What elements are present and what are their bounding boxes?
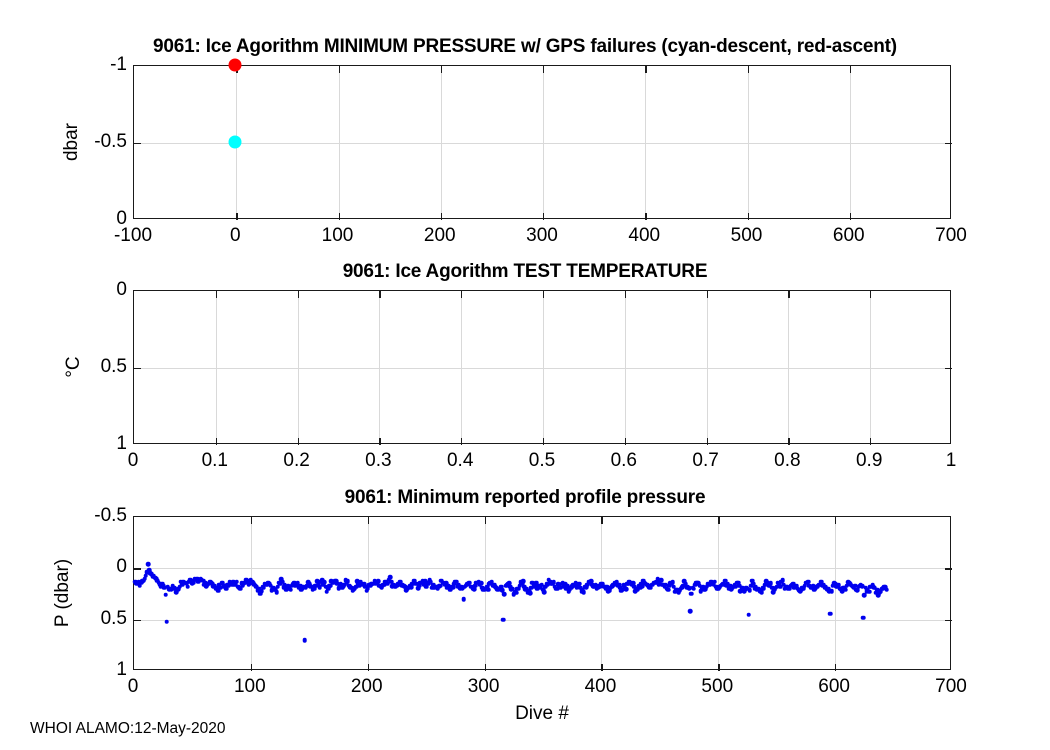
- axis-tick: [441, 213, 442, 220]
- axis-tick: [216, 438, 217, 445]
- y-tick-label: 1: [71, 433, 127, 455]
- gridline-horizontal: [134, 568, 950, 569]
- axis-tick: [485, 664, 486, 671]
- gridline-vertical: [543, 66, 544, 218]
- data-point: [867, 590, 872, 595]
- panel3-title: 9061: Minimum reported profile pressure: [0, 487, 1050, 509]
- axis-tick: [339, 66, 340, 73]
- x-tick-label: 100: [322, 225, 354, 247]
- data-point: [855, 588, 860, 593]
- data-point: [472, 587, 477, 592]
- data-point: [164, 619, 169, 624]
- x-tick-label: 0.7: [692, 450, 718, 472]
- data-point: [584, 585, 589, 590]
- gridline-vertical: [543, 291, 544, 443]
- data-point: [860, 584, 865, 589]
- axis-tick: [718, 664, 719, 671]
- y-tick-label: 0: [71, 556, 127, 578]
- data-point: [437, 584, 442, 589]
- x-tick-label: 0.8: [774, 450, 800, 472]
- panel3-xlabel: Dive #: [515, 703, 569, 725]
- data-point: [341, 584, 346, 589]
- gridline-vertical: [368, 517, 369, 669]
- data-point: [163, 592, 168, 597]
- y-tick-label: 0: [71, 208, 127, 230]
- gridline-horizontal: [134, 620, 950, 621]
- data-point: [302, 638, 307, 643]
- gridline-vertical: [461, 291, 462, 443]
- gridline-vertical: [645, 66, 646, 218]
- data-point: [322, 580, 327, 585]
- axis-tick: [850, 66, 851, 73]
- x-tick-label: 0.6: [611, 450, 637, 472]
- data-point: [364, 588, 369, 593]
- axis-tick: [707, 291, 708, 298]
- axis-tick: [718, 517, 719, 524]
- x-tick-label: 700: [935, 225, 967, 247]
- axis-tick: [134, 568, 141, 569]
- axis-tick: [788, 438, 789, 445]
- data-point: [388, 575, 393, 580]
- data-point: [688, 609, 693, 614]
- axis-tick: [298, 438, 299, 445]
- data-point: [746, 612, 751, 617]
- axis-tick: [236, 213, 237, 220]
- data-point: [376, 579, 381, 584]
- y-tick-label: 0: [71, 279, 127, 301]
- x-tick-label: 0.4: [447, 450, 473, 472]
- axis-tick: [850, 213, 851, 220]
- data-point: [521, 579, 526, 584]
- axis-tick: [945, 620, 952, 621]
- axis-tick: [134, 368, 141, 369]
- data-point: [288, 587, 293, 592]
- x-tick-label: 100: [234, 676, 266, 698]
- data-point: [258, 592, 263, 597]
- data-point: [267, 582, 272, 587]
- axis-tick: [251, 664, 252, 671]
- data-point: [582, 590, 587, 595]
- x-tick-label: 200: [351, 676, 383, 698]
- gridline-vertical: [251, 517, 252, 669]
- data-point: [829, 589, 834, 594]
- axis-tick: [134, 620, 141, 621]
- data-point: [318, 585, 323, 590]
- panel2-title: 9061: Ice Agorithm TEST TEMPERATURE: [0, 261, 1050, 283]
- data-point: [479, 581, 484, 586]
- data-point: [762, 586, 767, 591]
- gridline-vertical: [718, 517, 719, 669]
- axis-tick: [870, 291, 871, 298]
- gridline-vertical: [748, 66, 749, 218]
- data-point: [486, 587, 491, 592]
- axis-tick: [748, 66, 749, 73]
- axis-tick: [461, 291, 462, 298]
- axis-tick: [601, 517, 602, 524]
- data-point: [712, 579, 717, 584]
- x-tick-label: 0.1: [202, 450, 228, 472]
- axis-tick: [543, 213, 544, 220]
- data-point: [501, 617, 506, 622]
- axis-tick: [870, 438, 871, 445]
- data-point: [771, 590, 776, 595]
- x-tick-label: 0: [128, 676, 139, 698]
- axis-tick: [134, 143, 141, 144]
- gridline-vertical: [339, 66, 340, 218]
- panel3-axes: [133, 516, 951, 670]
- data-point: [542, 590, 547, 595]
- data-point: [558, 585, 563, 590]
- data-point: [310, 587, 315, 592]
- data-point: [750, 578, 755, 583]
- x-tick-label: 300: [526, 225, 558, 247]
- data-point: [883, 585, 888, 590]
- data-point: [871, 585, 876, 590]
- data-point: [861, 615, 866, 620]
- data-point: [237, 586, 242, 591]
- x-tick-label: 500: [731, 225, 763, 247]
- axis-tick: [461, 438, 462, 445]
- data-point: [507, 581, 512, 586]
- axis-tick: [645, 66, 646, 73]
- y-tick-label: -0.5: [71, 505, 127, 527]
- axis-tick: [835, 664, 836, 671]
- gridline-vertical: [850, 66, 851, 218]
- matlab-figure: 9061: Ice Agorithm MINIMUM PRESSURE w/ G…: [0, 0, 1050, 750]
- data-point: [279, 577, 284, 582]
- axis-tick: [945, 143, 952, 144]
- gridline-vertical: [707, 291, 708, 443]
- axis-tick: [543, 438, 544, 445]
- x-tick-label: 600: [833, 225, 865, 247]
- data-point: [624, 587, 629, 592]
- gridline-vertical: [788, 291, 789, 443]
- gridline-vertical: [379, 291, 380, 443]
- data-point: [176, 587, 181, 592]
- data-marker-red-ascent: [229, 59, 242, 72]
- axis-tick: [485, 517, 486, 524]
- data-point: [461, 597, 466, 602]
- gridline-vertical: [835, 517, 836, 669]
- data-point: [736, 580, 741, 585]
- gridline-vertical: [625, 291, 626, 443]
- axis-tick: [645, 213, 646, 220]
- gridline-vertical: [601, 517, 602, 669]
- x-tick-label: 0.5: [529, 450, 555, 472]
- axis-tick: [543, 291, 544, 298]
- axis-tick: [707, 438, 708, 445]
- data-point: [876, 593, 881, 598]
- data-point: [691, 587, 696, 592]
- panel1-title: 9061: Ice Agorithm MINIMUM PRESSURE w/ G…: [0, 36, 1050, 58]
- gridline-vertical: [441, 66, 442, 218]
- axis-tick: [379, 438, 380, 445]
- data-point: [689, 592, 694, 597]
- data-point: [502, 592, 507, 597]
- data-point: [199, 578, 204, 583]
- axis-tick: [748, 213, 749, 220]
- gridline-vertical: [298, 291, 299, 443]
- y-tick-label: 0.5: [71, 356, 127, 378]
- x-tick-label: 600: [818, 676, 850, 698]
- axis-tick: [543, 66, 544, 73]
- panel2-axes: [133, 290, 951, 444]
- data-point: [843, 588, 848, 593]
- axis-tick: [441, 66, 442, 73]
- data-point: [514, 590, 519, 595]
- x-tick-label: 0: [230, 225, 241, 247]
- y-tick-label: 1: [71, 659, 127, 681]
- data-point: [327, 584, 332, 589]
- axis-tick: [339, 213, 340, 220]
- data-point: [801, 586, 806, 591]
- axis-tick: [945, 568, 952, 569]
- x-tick-label: 0.9: [856, 450, 882, 472]
- axis-tick: [601, 664, 602, 671]
- data-point: [190, 581, 195, 586]
- x-tick-label: 400: [585, 676, 617, 698]
- data-point: [780, 578, 785, 583]
- axis-tick: [625, 438, 626, 445]
- data-point: [346, 579, 351, 584]
- axis-tick: [368, 664, 369, 671]
- panel1-axes: [133, 65, 951, 219]
- x-tick-label: 0.3: [365, 450, 391, 472]
- gridline-vertical: [870, 291, 871, 443]
- data-point: [185, 584, 190, 589]
- y-tick-label: -1: [71, 54, 127, 76]
- data-point: [140, 579, 145, 584]
- y-tick-label: -0.5: [71, 131, 127, 153]
- data-point: [516, 586, 521, 591]
- gridline-horizontal: [134, 368, 950, 369]
- data-point: [769, 581, 774, 586]
- axis-tick: [835, 517, 836, 524]
- x-tick-label: 400: [628, 225, 660, 247]
- x-tick-label: 500: [701, 676, 733, 698]
- data-point: [862, 593, 867, 598]
- data-point: [703, 587, 708, 592]
- data-point: [353, 586, 358, 591]
- data-point: [325, 589, 330, 594]
- axis-tick: [945, 368, 952, 369]
- data-point: [682, 579, 687, 584]
- gridline-vertical: [485, 517, 486, 669]
- data-point: [666, 587, 671, 592]
- data-point: [806, 579, 811, 584]
- x-tick-label: 200: [424, 225, 456, 247]
- data-point: [577, 582, 582, 587]
- data-point: [146, 562, 151, 567]
- data-point: [528, 591, 533, 596]
- data-point: [416, 586, 421, 591]
- figure-footer: WHOI ALAMO:12-May-2020: [30, 720, 226, 738]
- data-point: [734, 585, 739, 590]
- data-point: [427, 577, 432, 582]
- gridline-horizontal: [134, 143, 950, 144]
- axis-tick: [379, 291, 380, 298]
- data-marker-cyan-descent: [229, 136, 242, 149]
- axis-tick: [298, 291, 299, 298]
- x-tick-label: 300: [468, 676, 500, 698]
- axis-tick: [368, 517, 369, 524]
- data-point: [828, 611, 833, 616]
- axis-tick: [251, 517, 252, 524]
- gridline-vertical: [216, 291, 217, 443]
- x-tick-label: 0: [128, 450, 139, 472]
- axis-tick: [788, 291, 789, 298]
- data-point: [670, 580, 675, 585]
- y-tick-label: 0.5: [71, 608, 127, 630]
- data-point: [274, 590, 279, 595]
- axis-tick: [625, 291, 626, 298]
- x-tick-label: 0.2: [283, 450, 309, 472]
- x-tick-label: 1: [946, 450, 957, 472]
- data-point: [696, 581, 701, 586]
- data-point: [631, 581, 636, 586]
- axis-tick: [216, 291, 217, 298]
- data-point: [607, 588, 612, 593]
- x-tick-label: 700: [935, 676, 967, 698]
